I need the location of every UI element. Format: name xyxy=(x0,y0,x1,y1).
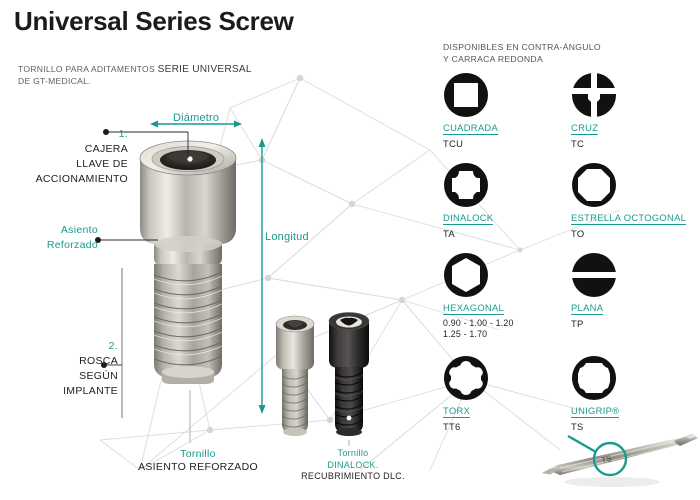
drive-option-unigrip[interactable]: UNIGRIP® TS xyxy=(571,355,691,432)
drive-name: DINALOCK xyxy=(443,212,493,225)
callout-cajera: 1. CAJERA LLAVE DE ACCIONAMIENTO xyxy=(10,126,128,186)
dimension-label-length: Longitud xyxy=(265,231,309,243)
drive-name: CUADRADA xyxy=(443,122,498,135)
hexagon-drive-icon xyxy=(443,252,489,298)
drive-option-cuadrada[interactable]: CUADRADA TCU xyxy=(443,72,563,149)
callout-rosca-line1: ROSCA xyxy=(79,355,118,367)
panel-heading: DISPONIBLES EN CONTRA-ÁNGULO Y CARRACA R… xyxy=(443,42,601,65)
torx-drive-icon xyxy=(443,355,489,401)
callout-rosca-number: 2. xyxy=(109,340,118,352)
drive-option-cruz[interactable]: CRUZ TC xyxy=(571,72,691,149)
callout-cajera-line2: LLAVE DE xyxy=(76,158,128,170)
drive-code: TO xyxy=(571,228,691,239)
drive-option-hexagonal[interactable]: HEXAGONAL 0.90 - 1.00 - 1.20 1.25 - 1.70 xyxy=(443,252,563,339)
drive-option-estrella-octogonal[interactable]: ESTRELLA OCTOGONAL TO xyxy=(571,162,691,239)
callout-rosca: 2. ROSCA SEGÚN IMPLANTE xyxy=(10,338,118,398)
driver-marking-text: TS xyxy=(600,454,612,465)
panel-heading-line2: Y CARRACA REDONDA xyxy=(443,54,543,64)
caption-asiento-dark: ASIENTO REFORZADO xyxy=(98,461,298,474)
caption-asiento-teal: Tornillo xyxy=(98,448,298,461)
callout-asiento-line1: Asiento xyxy=(61,224,98,236)
callout-rosca-line3: IMPLANTE xyxy=(63,385,118,397)
drive-name: CRUZ xyxy=(571,122,598,135)
callout-asiento-reforzado: Asiento Reforzado xyxy=(10,222,98,252)
unigrip-drive-icon xyxy=(571,355,617,401)
infographic-page: Universal Series Screw TORNILLO PARA ADI… xyxy=(0,0,700,500)
drive-name: HEXAGONAL xyxy=(443,302,504,315)
drive-code: TP xyxy=(571,318,691,329)
drive-name: ESTRELLA OCTOGONAL xyxy=(571,212,686,225)
dinalock-drive-icon xyxy=(443,162,489,208)
drive-name: PLANA xyxy=(571,302,603,315)
callout-cajera-line1: CAJERA xyxy=(85,143,128,155)
drive-name: TORX xyxy=(443,405,470,418)
square-drive-icon xyxy=(443,72,489,118)
drive-code: TCU xyxy=(443,138,563,149)
callout-cajera-number: 1. xyxy=(119,128,128,140)
caption-dinalock-dark: RECUBRIMIENTO DLC. xyxy=(288,471,418,483)
callout-cajera-line3: ACCIONAMIENTO xyxy=(36,173,128,185)
drive-code: TC xyxy=(571,138,691,149)
drive-sizes: 0.90 - 1.00 - 1.20 1.25 - 1.70 xyxy=(443,318,563,339)
panel-heading-line1: DISPONIBLES EN CONTRA-ÁNGULO xyxy=(443,42,601,52)
drive-code: TA xyxy=(443,228,563,239)
drive-option-dinalock[interactable]: DINALOCK TA xyxy=(443,162,563,239)
caption-asiento-reforzado: Tornillo ASIENTO REFORZADO xyxy=(98,448,298,474)
screwdriver-illustration: TS xyxy=(540,430,700,492)
drive-option-plana[interactable]: PLANA TP xyxy=(571,252,691,329)
cross-drive-icon xyxy=(571,72,617,118)
caption-dinalock: Tornillo DINALOCK. RECUBRIMIENTO DLC. xyxy=(288,448,418,483)
flat-drive-icon xyxy=(571,252,617,298)
dimension-label-diameter: Diámetro xyxy=(173,112,219,124)
octagon-drive-icon xyxy=(571,162,617,208)
caption-dinalock-teal: Tornillo xyxy=(288,448,418,460)
callout-asiento-line2: Reforzado xyxy=(47,239,98,251)
drive-name: UNIGRIP® xyxy=(571,405,619,418)
caption-dinalock-teal2: DINALOCK. xyxy=(288,460,418,472)
callout-rosca-line2: SEGÚN xyxy=(79,370,118,382)
drive-option-torx[interactable]: TORX TT6 xyxy=(443,355,563,432)
